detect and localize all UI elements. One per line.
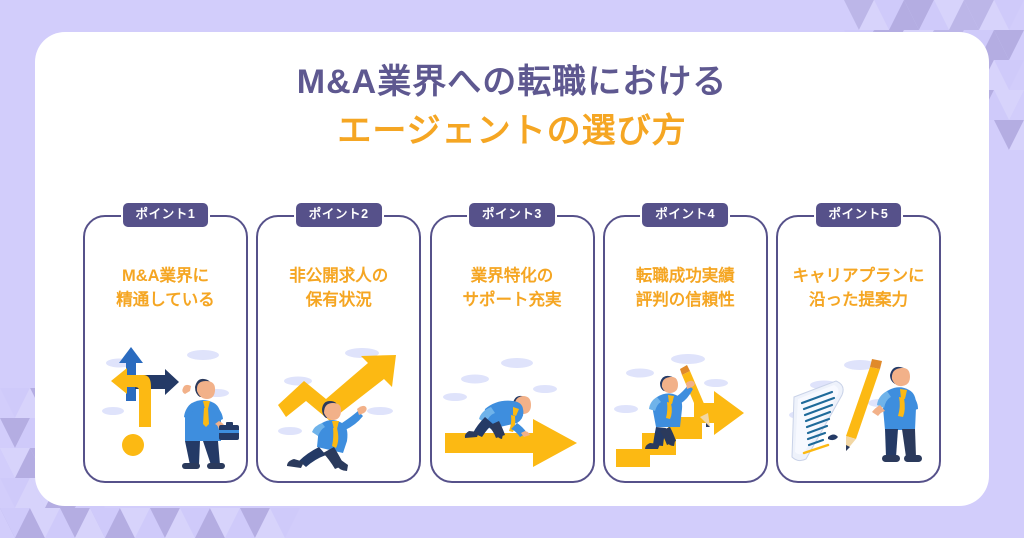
point-title-1-line-1: M&A業界に bbox=[122, 267, 209, 285]
point-card-2[interactable]: ポイント2 非公開求人の 保有状況 bbox=[256, 215, 421, 483]
starting-line-runner-icon bbox=[432, 337, 593, 473]
points-card-row: ポイント1 M&A業界に 精通している bbox=[83, 215, 941, 483]
document-signing-pencil-icon bbox=[778, 337, 939, 473]
point-title-1-line-2: 精通している bbox=[85, 289, 246, 313]
point-badge-5: ポイント5 bbox=[814, 201, 904, 229]
point-title-2-line-1: 非公開求人の bbox=[289, 267, 388, 285]
point-title-2: 非公開求人の 保有状況 bbox=[258, 265, 419, 313]
point-badge-1: ポイント1 bbox=[121, 201, 211, 229]
point-title-2-line-2: 保有状況 bbox=[258, 289, 419, 313]
title-line-1: M&A業界への転職における bbox=[35, 58, 989, 107]
signpost-question-mark-icon bbox=[85, 337, 246, 473]
point-title-4-line-1: 転職成功実績 bbox=[636, 267, 735, 285]
point-card-4[interactable]: ポイント4 転職成功実績 評判の信頼性 bbox=[603, 215, 768, 483]
point-badge-4: ポイント4 bbox=[640, 201, 730, 229]
rising-arrow-runner-icon bbox=[258, 337, 419, 473]
point-card-5[interactable]: ポイント5 キャリアプランに 沿った提案力 bbox=[776, 215, 941, 483]
point-card-1[interactable]: ポイント1 M&A業界に 精通している bbox=[83, 215, 248, 483]
main-panel: M&A業界への転職における エージェントの選び方 ポイント1 M&A業界に 精通… bbox=[35, 32, 989, 506]
point-title-4-line-2: 評判の信頼性 bbox=[605, 289, 766, 313]
title-line-2: エージェントの選び方 bbox=[35, 107, 989, 156]
point-title-3-line-2: サポート充実 bbox=[432, 289, 593, 313]
point-title-3: 業界特化の サポート充実 bbox=[432, 265, 593, 313]
point-card-3[interactable]: ポイント3 業界特化の サポート充実 bbox=[430, 215, 595, 483]
page-title: M&A業界への転職における エージェントの選び方 bbox=[35, 32, 989, 157]
point-title-1: M&A業界に 精通している bbox=[85, 265, 246, 313]
point-title-3-line-1: 業界特化の bbox=[471, 267, 554, 285]
stairs-arrow-climber-icon bbox=[605, 337, 766, 473]
point-title-5: キャリアプランに 沿った提案力 bbox=[778, 265, 939, 313]
point-title-5-line-1: キャリアプランに bbox=[793, 267, 925, 285]
point-title-4: 転職成功実績 評判の信頼性 bbox=[605, 265, 766, 313]
point-title-5-line-2: 沿った提案力 bbox=[778, 289, 939, 313]
point-badge-3: ポイント3 bbox=[467, 201, 557, 229]
point-badge-2: ポイント2 bbox=[294, 201, 384, 229]
